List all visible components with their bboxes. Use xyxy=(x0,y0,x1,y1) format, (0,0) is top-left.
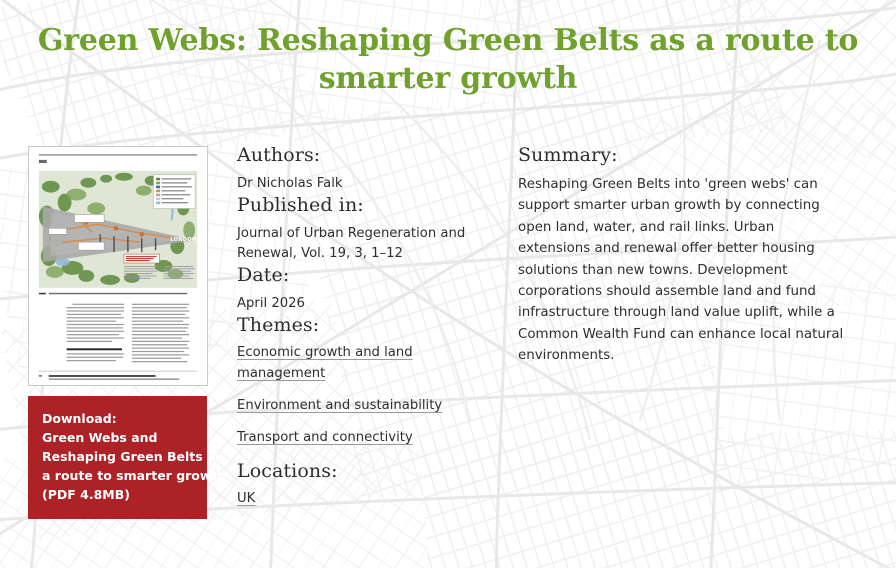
theme-link-economic-growth-and-land-management[interactable]: Economic growth and land management xyxy=(237,343,487,383)
download-line-4: a route to smarter growth xyxy=(42,466,193,485)
publication-cover-thumbnail[interactable]: LONDON xyxy=(28,146,208,386)
download-pdf-button[interactable]: Download: Green Webs and Reshaping Green… xyxy=(28,396,207,519)
published-in-heading: Published in: xyxy=(237,194,487,217)
location-link-row: UK xyxy=(237,489,487,509)
theme-link-row: Economic growth and land management xyxy=(237,343,487,383)
theme-link-row: Environment and sustainability xyxy=(237,396,487,416)
themes-heading: Themes: xyxy=(237,314,487,337)
download-line-2: Green Webs and xyxy=(42,428,193,447)
page-title: Green Webs: Reshaping Green Belts as a r… xyxy=(0,22,896,99)
authors-value: Dr Nicholas Falk xyxy=(237,174,487,194)
publication-detail-page: Green Webs: Reshaping Green Belts as a r… xyxy=(0,0,896,568)
svg-text:LONDON: LONDON xyxy=(170,237,196,243)
summary-text: Reshaping Green Belts into 'green webs' … xyxy=(518,174,848,367)
theme-link-row: Transport and connectivity xyxy=(237,428,487,448)
authors-heading: Authors: xyxy=(237,144,487,167)
page-title-line-1: Green Webs: Reshaping Green Belts as a r… xyxy=(0,22,896,60)
published-in-value: Journal of Urban Regeneration and Renewa… xyxy=(237,224,487,264)
page-title-line-2: smarter growth xyxy=(0,60,896,98)
download-line-5: (PDF 4.8MB) xyxy=(42,485,193,504)
download-line-1: Download: xyxy=(42,409,193,428)
left-column: LONDON xyxy=(28,146,208,386)
metadata-column: Authors: Dr Nicholas Falk Published in: … xyxy=(237,144,487,510)
date-heading: Date: xyxy=(237,264,487,287)
theme-link-transport-and-connectivity[interactable]: Transport and connectivity xyxy=(237,428,413,448)
date-value: April 2026 xyxy=(237,294,487,314)
summary-heading: Summary: xyxy=(518,144,848,167)
locations-heading: Locations: xyxy=(237,460,487,483)
location-link-uk[interactable]: UK xyxy=(237,489,255,509)
summary-column: Summary: Reshaping Green Belts into 'gre… xyxy=(518,144,848,367)
theme-link-environment-and-sustainability[interactable]: Environment and sustainability xyxy=(237,396,442,416)
download-line-3: Reshaping Green Belts as xyxy=(42,447,193,466)
